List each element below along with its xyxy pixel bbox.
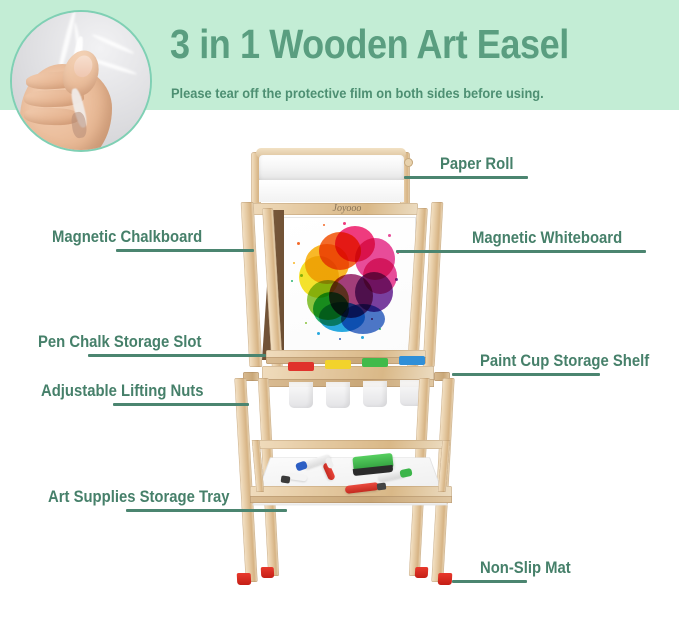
non-slip-mat-foot <box>237 573 252 585</box>
non-slip-mat-foot <box>438 573 453 585</box>
leader-magnetic-chalkboard <box>116 249 254 252</box>
label-art-supplies-storage-tray: Art Supplies Storage Tray <box>48 488 230 506</box>
label-adjustable-lifting-nuts: Adjustable Lifting Nuts <box>41 382 204 400</box>
paint-cup <box>325 360 351 369</box>
leader-non-slip-mat <box>452 580 527 583</box>
non-slip-mat-foot <box>415 567 429 578</box>
label-pen-chalk-storage-slot: Pen Chalk Storage Slot <box>38 333 201 351</box>
rear-leg-upper-left <box>241 202 263 367</box>
paint-cup <box>288 362 314 371</box>
magnetic-whiteboard <box>283 218 415 361</box>
thumbnail <box>71 53 95 79</box>
paint-cup-body <box>289 382 313 408</box>
leader-paint-cup-storage-shelf <box>452 373 600 376</box>
page-title: 3 in 1 Wooden Art Easel <box>170 22 610 66</box>
leader-paper-roll <box>404 176 528 179</box>
paint-cup-body <box>363 381 387 407</box>
paint-cup <box>399 356 425 365</box>
label-paper-roll: Paper Roll <box>440 155 513 173</box>
leader-pen-chalk-storage-slot <box>88 354 266 357</box>
paint-cup-body <box>326 382 350 408</box>
paint-cup <box>362 358 388 367</box>
label-non-slip-mat: Non-Slip Mat <box>480 559 571 577</box>
paper-roll <box>259 155 404 182</box>
paper-roll-knob <box>404 158 413 167</box>
label-magnetic-whiteboard: Magnetic Whiteboard <box>472 229 622 247</box>
leader-art-supplies-storage-tray <box>126 509 287 512</box>
tray-rail-back <box>256 440 446 449</box>
label-paint-cup-storage-shelf: Paint Cup Storage Shelf <box>480 352 649 370</box>
leader-magnetic-whiteboard <box>396 250 646 253</box>
leader-adjustable-lifting-nuts <box>113 403 249 406</box>
easel-product-image: Joyooo <box>0 110 679 634</box>
rear-leg-lower-left <box>234 378 257 582</box>
paper-sheet <box>259 180 404 202</box>
label-magnetic-chalkboard: Magnetic Chalkboard <box>52 228 202 246</box>
brand-logo: Joyooo <box>325 202 369 215</box>
red-marker-tip <box>377 482 387 490</box>
black-chalk-holder <box>281 475 291 483</box>
tray-rail-front-edge <box>250 496 452 503</box>
banner-subtitle: Please tear off the protective film on b… <box>171 86 646 101</box>
non-slip-mat-foot <box>261 567 275 578</box>
